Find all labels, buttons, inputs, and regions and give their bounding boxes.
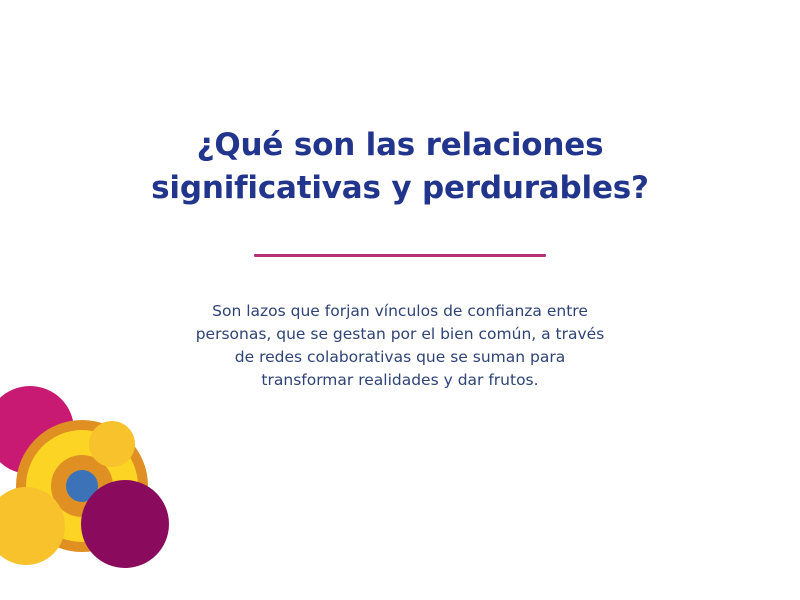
body-line-3: de redes colaborativas que se suman para [120,346,680,369]
title-divider [0,254,800,257]
concentric-circles-ornament-icon [0,378,174,568]
slide: ¿Qué son las relaciones significativas y… [0,0,800,600]
body-line-1: Son lazos que forjan vínculos de confian… [120,300,680,323]
title-line-2: significativas y perdurables? [60,167,740,210]
body-line-2: personas, que se gestan por el bien comú… [120,323,680,346]
body-paragraph: Son lazos que forjan vínculos de confian… [120,300,680,392]
ornament-svg [0,378,174,568]
ornament-purple-circle-bottom-right [81,480,169,568]
ornament-amber-circle-top-right [89,421,135,467]
divider-line [254,254,546,257]
body-line-4: transformar realidades y dar frutos. [120,369,680,392]
title-line-1: ¿Qué son las relaciones [60,124,740,167]
page-title: ¿Qué son las relaciones significativas y… [60,124,740,210]
